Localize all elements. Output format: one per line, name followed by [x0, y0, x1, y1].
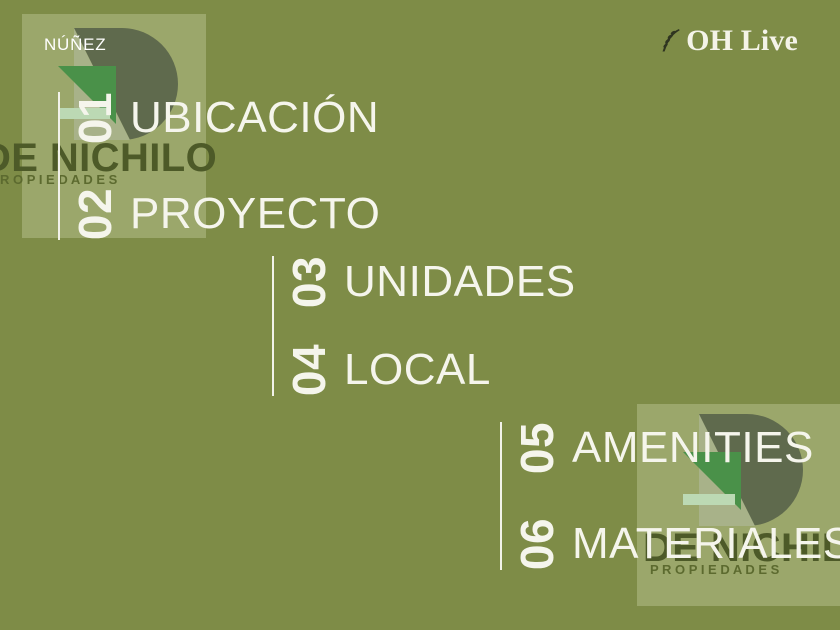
olive-branch-icon [660, 27, 682, 53]
brand-name: OH Live [686, 26, 798, 56]
menu-item-number: 05 [516, 422, 562, 474]
locality-label: NÚÑEZ [44, 36, 106, 53]
menu-item-label: UNIDADES [344, 260, 576, 304]
menu-group-1: 01 UBICACIÓN 02 PROYECTO [58, 92, 380, 240]
brand-logo[interactable]: OH Live [660, 26, 798, 56]
menu-item-number: 04 [288, 344, 334, 396]
menu-item-local[interactable]: 04 LOCAL [288, 344, 576, 396]
menu-group-2: 03 UNIDADES 04 LOCAL [272, 256, 576, 396]
menu-item-unidades[interactable]: 03 UNIDADES [288, 256, 576, 308]
group-divider-rule [272, 256, 274, 396]
menu-item-label: PROYECTO [130, 192, 380, 236]
group-divider-rule [58, 92, 60, 240]
menu-item-number: 01 [74, 92, 120, 144]
menu-item-label: LOCAL [344, 348, 491, 392]
group-divider-rule [500, 422, 502, 570]
menu-item-materiales[interactable]: 06 MATERIALES [516, 518, 840, 570]
menu-item-number: 02 [74, 188, 120, 240]
menu-item-label: UBICACIÓN [130, 96, 379, 140]
menu-item-number: 03 [288, 256, 334, 308]
menu-item-number: 06 [516, 518, 562, 570]
menu-item-ubicacion[interactable]: 01 UBICACIÓN [74, 92, 380, 144]
menu-item-label: AMENITIES [572, 426, 814, 470]
menu-item-proyecto[interactable]: 02 PROYECTO [74, 188, 380, 240]
menu-group-3: 05 AMENITIES 06 MATERIALES [500, 422, 840, 570]
slide-canvas: DE NICHILO P R O P I E D A D E S DE NICH… [0, 0, 840, 630]
menu-item-amenities[interactable]: 05 AMENITIES [516, 422, 840, 474]
menu-item-label: MATERIALES [572, 522, 840, 566]
